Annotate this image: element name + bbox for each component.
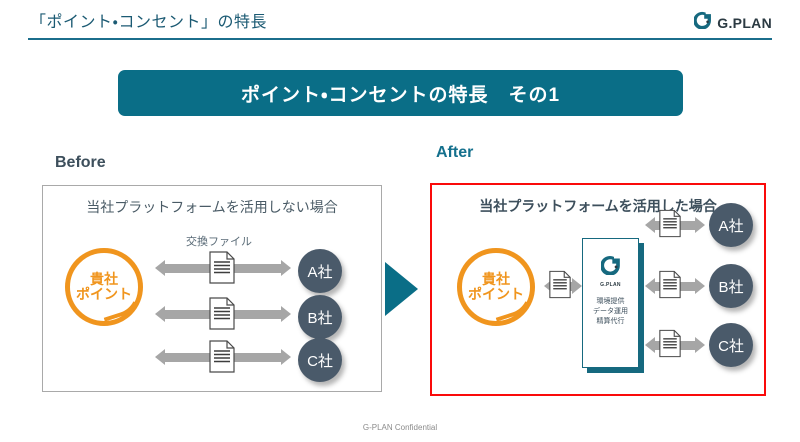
after-company-c-circle: C社 xyxy=(709,323,753,367)
arrow-head-right-icon xyxy=(281,260,291,276)
after-document-b-icon xyxy=(659,270,685,303)
before-document-a-icon xyxy=(209,251,235,284)
arrow-head-left-icon xyxy=(155,306,165,322)
after-company-a-label: A社 xyxy=(718,215,743,236)
after-document-a-icon xyxy=(659,209,685,242)
triangle-right-icon xyxy=(385,262,418,316)
after-hub-circle: 貴社 ポイント xyxy=(457,248,535,326)
arrow-head-right-icon xyxy=(695,217,705,233)
before-exchange-label: 交換ファイル xyxy=(186,233,252,249)
section-banner-text: ポイント・コンセントの特長 その1 xyxy=(241,80,560,107)
arrow-head-right-icon xyxy=(281,306,291,322)
before-company-b-label: B社 xyxy=(307,307,332,328)
header-divider xyxy=(28,38,772,40)
before-document-b-icon xyxy=(209,297,235,330)
section-banner: ポイント・コンセントの特長 その1 xyxy=(118,70,683,116)
arrow-head-right-icon xyxy=(695,337,705,353)
before-panel: 当社プラットフォームを活用しない場合 貴社 ポイント 交換ファイル xyxy=(42,185,382,392)
footer-confidential: G-PLAN Confidential xyxy=(0,423,800,432)
arrow-head-left-icon xyxy=(155,349,165,365)
before-company-c-label: C社 xyxy=(307,350,333,371)
after-document-hub-icon xyxy=(549,270,575,303)
platform-service-2: データ運用 xyxy=(593,307,628,317)
arrow-head-right-icon xyxy=(695,278,705,294)
arrow-head-left-icon xyxy=(645,278,655,294)
page-title: 「ポイント・コンセント」の特長 xyxy=(30,8,267,32)
before-label: Before xyxy=(55,154,106,172)
before-company-a-circle: A社 xyxy=(298,249,342,293)
before-hub-circle: 貴社 ポイント xyxy=(65,248,143,326)
slide-canvas: 「ポイント・コンセント」の特長 G.PLAN ポイント・コンセントの特長 その1… xyxy=(0,0,800,442)
after-label: After xyxy=(436,144,473,162)
after-company-a-circle: A社 xyxy=(709,203,753,247)
g-plan-mark-icon xyxy=(694,11,712,34)
brand-logo: G.PLAN xyxy=(694,11,772,34)
platform-logo-text: G.PLAN xyxy=(600,282,621,288)
platform-service-list: 環境提供 データ運用 精算代行 xyxy=(593,297,628,327)
platform-service-3: 精算代行 xyxy=(593,317,628,327)
before-company-b-circle: B社 xyxy=(298,295,342,339)
platform-service-1: 環境提供 xyxy=(593,297,628,307)
after-company-b-label: B社 xyxy=(718,276,743,297)
arrow-head-left-icon xyxy=(645,337,655,353)
arrow-head-right-icon xyxy=(281,349,291,365)
after-company-c-label: C社 xyxy=(718,335,744,356)
after-document-c-icon xyxy=(659,329,685,362)
before-caption: 当社プラットフォームを活用しない場合 xyxy=(43,197,381,217)
after-company-b-circle: B社 xyxy=(709,264,753,308)
arrow-head-left-icon xyxy=(645,217,655,233)
before-document-c-icon xyxy=(209,340,235,373)
before-company-a-label: A社 xyxy=(307,261,332,282)
platform-box: G.PLAN 環境提供 データ運用 精算代行 xyxy=(582,238,639,368)
before-company-c-circle: C社 xyxy=(298,338,342,382)
arrow-head-left-icon xyxy=(155,260,165,276)
brand-logo-text: G.PLAN xyxy=(717,15,772,31)
platform-g-plan-mark-icon xyxy=(601,255,621,280)
